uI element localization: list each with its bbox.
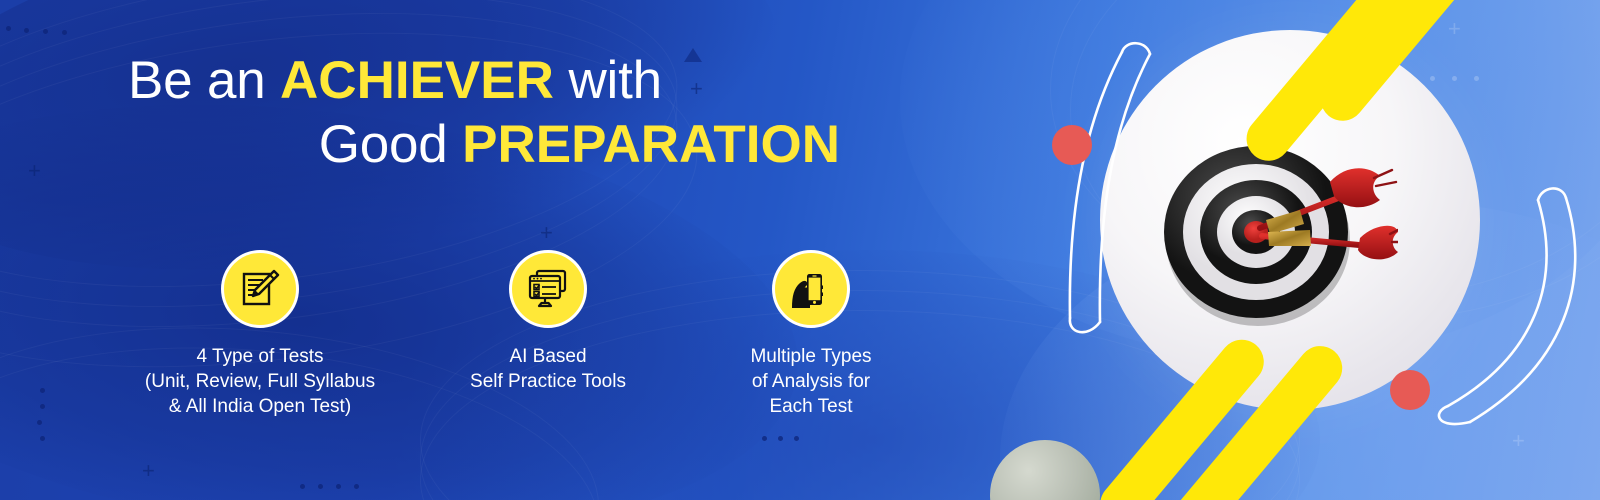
red-dot-accent	[1390, 370, 1430, 410]
background-dot	[336, 484, 341, 489]
background-dot	[37, 420, 42, 425]
background-dot	[40, 404, 45, 409]
feature-label-line: (Unit, Review, Full Syllabus	[145, 369, 375, 394]
background-dot	[40, 388, 45, 393]
headline-line-1-suffix: with	[554, 51, 662, 110]
feature-label-line: Multiple Types	[750, 344, 871, 369]
feature-label-line: Self Practice Tools	[470, 369, 626, 394]
headline-preparation: PREPARATION	[462, 115, 840, 174]
feature-label-line: 4 Type of Tests	[145, 344, 375, 369]
background-dot	[43, 29, 48, 34]
background-dot	[24, 28, 29, 33]
promo-banner: + + + + + + Be an ACHIEVER with Good PRE…	[0, 0, 1600, 500]
background-dot	[794, 436, 799, 441]
background-dot	[778, 436, 783, 441]
background-dot	[300, 484, 305, 489]
background-dot	[62, 30, 67, 35]
headline-achiever: ACHIEVER	[280, 51, 554, 110]
background-dot	[762, 436, 767, 441]
document-pencil-icon	[221, 250, 299, 328]
feature-label-ai-tools: AI Based Self Practice Tools	[470, 344, 626, 394]
headline: Be an ACHIEVER with Good PREPARATION	[128, 52, 848, 174]
background-plus-icon: +	[540, 222, 553, 244]
feature-label-line: & All India Open Test)	[145, 394, 375, 419]
feature-label-line: of Analysis for	[750, 369, 871, 394]
feature-label-analysis: Multiple Types of Analysis for Each Test	[750, 344, 871, 419]
headline-line-1: Be an ACHIEVER with	[128, 52, 848, 110]
feature-item-ai-tools: AI Based Self Practice Tools	[410, 250, 686, 419]
feature-list: 4 Type of Tests (Unit, Review, Full Syll…	[110, 250, 970, 419]
feature-label-line: AI Based	[470, 344, 626, 369]
background-dot	[354, 484, 359, 489]
feature-label-line: Each Test	[750, 394, 871, 419]
feature-item-tests: 4 Type of Tests (Unit, Review, Full Syll…	[110, 250, 410, 419]
background-dot	[40, 436, 45, 441]
headline-line-2-prefix: Good	[319, 115, 462, 174]
background-dot	[318, 484, 323, 489]
headline-line-2: Good PREPARATION	[128, 116, 848, 174]
background-plus-icon: +	[28, 160, 41, 182]
headline-line-1-prefix: Be an	[128, 51, 280, 110]
hero-artwork	[1060, 0, 1600, 500]
monitor-checklist-icon	[509, 250, 587, 328]
background-dot	[6, 26, 11, 31]
feature-label-tests: 4 Type of Tests (Unit, Review, Full Syll…	[145, 344, 375, 419]
gray-sphere-accent	[990, 440, 1100, 500]
red-dot-accent	[1052, 125, 1092, 165]
feature-item-analysis: Multiple Types of Analysis for Each Test	[686, 250, 936, 419]
background-plus-icon: +	[142, 460, 155, 482]
hand-holding-phone-icon	[772, 250, 850, 328]
